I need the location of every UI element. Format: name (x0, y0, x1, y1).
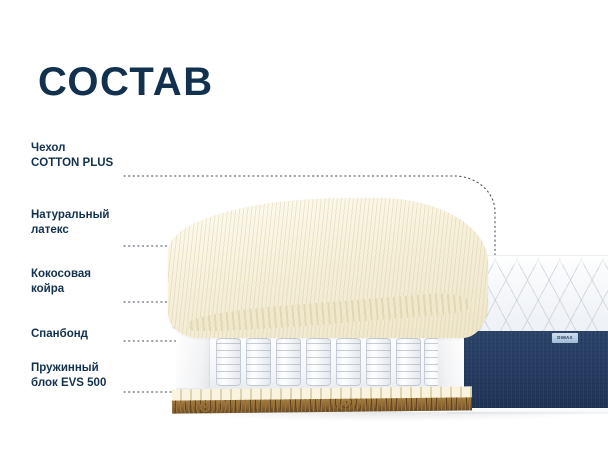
brand-badge: DIMAX (552, 333, 578, 343)
pocket-spring (366, 338, 391, 386)
pocket-spring (336, 338, 361, 386)
mattress-cutaway-illustration: DIMAX (0, 150, 608, 450)
pocket-spring (306, 338, 331, 386)
pocket-spring (276, 338, 301, 386)
drop-shadow (180, 412, 600, 421)
pocket-spring (216, 338, 241, 386)
pocket-spring (246, 338, 271, 386)
composition-infographic: СОСТАВ Чехол COTTON PLUS Натуральный (0, 0, 608, 456)
pocket-spring (396, 338, 421, 386)
foam-border-left (176, 330, 210, 388)
page-title: СОСТАВ (38, 62, 214, 102)
foam-border-right (438, 330, 464, 388)
natural-latex-layer (168, 198, 488, 338)
